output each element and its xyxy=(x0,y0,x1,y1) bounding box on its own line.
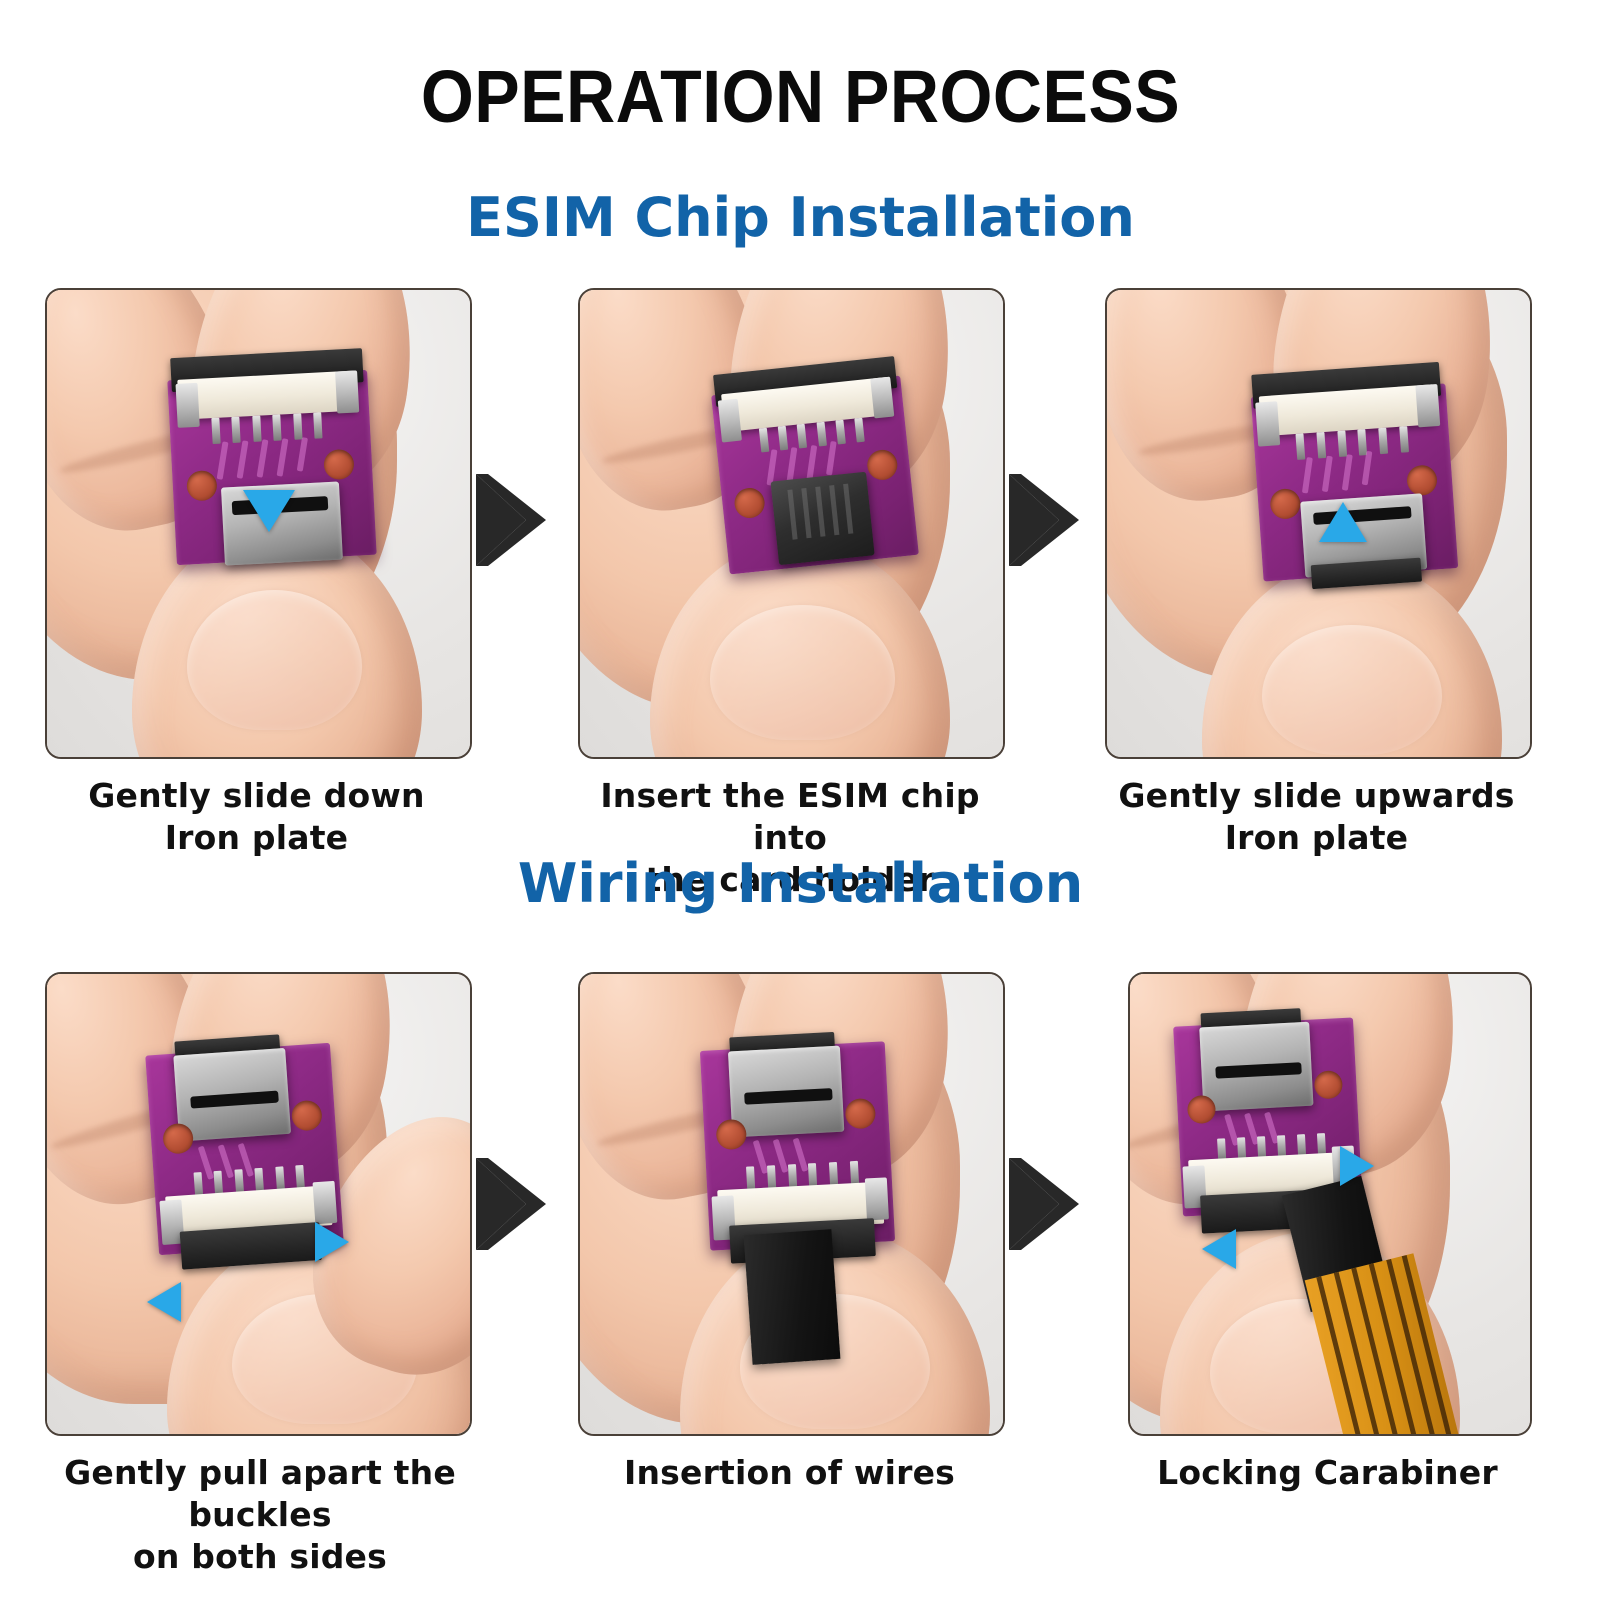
pin xyxy=(1337,431,1347,457)
pin xyxy=(759,428,769,453)
mounting-hole-left xyxy=(1269,488,1301,520)
mounting-hole-right xyxy=(1406,464,1438,496)
step-separator-chevron-4 xyxy=(1007,1152,1081,1256)
caption-line: Gently slide down xyxy=(45,775,468,817)
step-caption-6: Locking Carabiner xyxy=(1105,1452,1550,1494)
sim-holder-slot xyxy=(190,1091,279,1109)
fpc-buckle-right xyxy=(312,1181,337,1224)
pcb-trace xyxy=(1362,451,1373,486)
pin xyxy=(232,417,241,443)
pin xyxy=(746,1166,755,1190)
step-photo-1 xyxy=(45,288,472,759)
fpc-actuator xyxy=(177,371,357,420)
pin xyxy=(1378,428,1388,454)
photo-canvas-2 xyxy=(580,290,1003,757)
mounting-hole-right xyxy=(1314,1070,1343,1099)
fpc-ear-left xyxy=(175,383,199,428)
pin xyxy=(808,1163,817,1187)
step-photo-5 xyxy=(578,972,1005,1436)
chip-contact xyxy=(787,489,797,539)
pin xyxy=(1295,433,1305,459)
fpc-ear-right xyxy=(1415,384,1440,427)
pcb-board xyxy=(700,1041,895,1250)
pcb-trace xyxy=(257,439,269,477)
caption-line: Insert the ESIM chip into xyxy=(570,775,1010,859)
pin xyxy=(295,1165,305,1189)
pin xyxy=(1399,426,1409,452)
photo-canvas-4 xyxy=(47,974,470,1434)
photo-canvas-1 xyxy=(47,290,470,757)
step-photo-2 xyxy=(578,288,1005,759)
slide-up-indicator-arrow xyxy=(1319,502,1367,542)
pin xyxy=(829,1162,838,1186)
pcb-trace xyxy=(217,441,229,479)
fpc-ear-right xyxy=(870,377,894,419)
pin xyxy=(788,1164,797,1188)
pcb-board xyxy=(1251,383,1458,581)
step-photo-3 xyxy=(1105,288,1532,759)
pcb-trace xyxy=(1322,456,1333,492)
fpc-ear-left xyxy=(1255,401,1280,446)
chip-contact xyxy=(829,485,839,535)
pin xyxy=(313,412,322,438)
pin xyxy=(234,1169,244,1193)
pin xyxy=(194,1172,204,1196)
thumbnail xyxy=(1262,625,1442,755)
pull-right-indicator-arrow xyxy=(315,1222,349,1262)
page-title: OPERATION PROCESS xyxy=(64,54,1537,139)
flat-flex-cable xyxy=(744,1229,841,1365)
photo-canvas-5 xyxy=(580,974,1003,1434)
pin xyxy=(1316,432,1326,458)
pcb-trace xyxy=(277,438,289,476)
caption-line: Gently slide upwards xyxy=(1105,775,1528,817)
caption-line: Insertion of wires xyxy=(578,1452,1001,1494)
step-separator-chevron-1 xyxy=(474,468,548,572)
photo-canvas-3 xyxy=(1107,290,1530,757)
step-caption-5: Insertion of wires xyxy=(578,1452,1001,1494)
chip-contact xyxy=(801,488,811,538)
pin xyxy=(767,1165,776,1189)
pin xyxy=(797,424,807,449)
mounting-hole-left xyxy=(186,470,218,502)
photo-canvas-6 xyxy=(1130,974,1530,1434)
mounting-hole-left xyxy=(716,1119,748,1151)
fpc-ear-right xyxy=(335,370,359,413)
step-separator-chevron-2 xyxy=(1007,468,1081,572)
step-photo-6 xyxy=(1128,972,1532,1436)
pin xyxy=(816,422,826,447)
mounting-hole-right xyxy=(845,1098,877,1130)
chip-contact xyxy=(843,484,853,534)
step-caption-1: Gently slide down Iron plate xyxy=(45,775,468,859)
step-caption-4: Gently pull apart the buckles on both si… xyxy=(10,1452,510,1579)
sim-card-holder xyxy=(1199,1022,1313,1112)
caption-line: Locking Carabiner xyxy=(1105,1452,1550,1494)
pin xyxy=(835,420,845,445)
step-separator-chevron-3 xyxy=(474,1152,548,1256)
mounting-hole-left xyxy=(733,487,766,520)
pin xyxy=(778,426,788,451)
pcb-trace xyxy=(1302,457,1313,493)
pcb-trace xyxy=(297,437,308,472)
caption-line: on both sides xyxy=(10,1536,510,1578)
pcb-trace xyxy=(237,440,249,478)
pin xyxy=(214,1171,224,1195)
mounting-hole-left xyxy=(1187,1095,1216,1124)
mounting-hole-right xyxy=(866,448,899,481)
mounting-hole-right xyxy=(323,449,355,481)
pcb-trace xyxy=(1342,454,1353,490)
sim-holder-slot xyxy=(1215,1062,1302,1078)
pin xyxy=(272,414,281,440)
lock-right-indicator-arrow xyxy=(1340,1146,1374,1186)
pin xyxy=(255,1168,265,1192)
slide-down-indicator-arrow xyxy=(243,490,295,532)
step-photo-4 xyxy=(45,972,472,1436)
pin xyxy=(252,416,261,442)
fpc-ear-left xyxy=(718,399,742,443)
fpc-buckle-right xyxy=(865,1177,889,1220)
pcb-trace xyxy=(826,441,837,476)
sim-card-holder xyxy=(173,1048,291,1142)
thumbnail xyxy=(710,605,895,740)
chip-contact xyxy=(815,487,825,537)
sim-holder-slot xyxy=(744,1088,833,1105)
pcb-board xyxy=(711,376,919,575)
pin xyxy=(293,413,302,439)
pcb-board xyxy=(167,370,376,565)
mounting-hole-right xyxy=(291,1100,323,1132)
pin xyxy=(850,1161,859,1185)
sim-card-holder xyxy=(728,1046,844,1138)
esim-chip xyxy=(770,472,874,566)
section-heading-esim: ESIM Chip Installation xyxy=(0,186,1601,249)
pin xyxy=(211,418,220,444)
pcb-board xyxy=(145,1043,344,1255)
pull-left-indicator-arrow xyxy=(147,1282,181,1322)
step-caption-3: Gently slide upwards Iron plate xyxy=(1105,775,1528,859)
pin xyxy=(854,418,864,443)
section-heading-wiring: Wiring Installation xyxy=(0,852,1601,915)
pin xyxy=(275,1166,285,1190)
lock-left-indicator-arrow xyxy=(1202,1229,1236,1269)
caption-line: Gently pull apart the buckles xyxy=(10,1452,510,1536)
